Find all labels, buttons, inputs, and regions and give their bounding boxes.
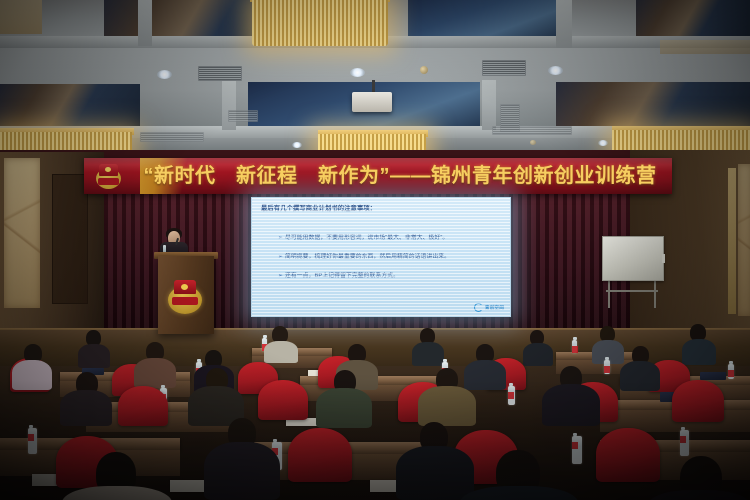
audience-member bbox=[396, 446, 474, 500]
smoke-detector bbox=[530, 140, 536, 145]
water-bottle bbox=[680, 430, 689, 456]
water-bottle bbox=[572, 340, 577, 353]
audience-member bbox=[78, 344, 110, 368]
recessed-downlight bbox=[292, 142, 302, 148]
ceiling bbox=[0, 0, 750, 162]
audience-member bbox=[542, 384, 600, 426]
audience-member bbox=[682, 339, 716, 365]
bullet-arrow-icon: ➢ bbox=[278, 235, 283, 241]
audience-member bbox=[620, 361, 660, 391]
water-bottle bbox=[28, 428, 37, 454]
recessed-downlight bbox=[157, 70, 172, 79]
audience-member bbox=[523, 343, 553, 366]
audience-member bbox=[60, 390, 112, 426]
air-conditioning-vent bbox=[492, 126, 572, 135]
ring-icon bbox=[474, 303, 483, 312]
audience-member bbox=[412, 342, 444, 366]
marble-wall-panel bbox=[738, 164, 750, 316]
ceiling-wood-trim bbox=[0, 0, 42, 34]
rectangular-gold-chandelier bbox=[252, 0, 388, 46]
slide-logo: 青创空间 bbox=[474, 303, 504, 312]
water-bottle bbox=[572, 436, 582, 464]
red-cap-gold-disc-emblem bbox=[166, 280, 204, 314]
speaker-podium bbox=[158, 256, 214, 334]
ceiling-projector bbox=[352, 92, 392, 112]
water-bottle bbox=[604, 360, 610, 374]
slide-logo-text: 青创空间 bbox=[485, 305, 504, 311]
ceiling-art-panel bbox=[408, 0, 568, 36]
slide-bullet-3: ➢还有一点，BP上记得留下完整的联系方式。 bbox=[278, 270, 399, 279]
ceiling-wood-trim bbox=[660, 40, 750, 54]
conference-hall-photo: “新时代 新征程 新作为”——锦州青年创新创业训练营 最后有几个撰写商业计划书的… bbox=[0, 0, 750, 500]
projection-screen: 最后有几个撰写商业计划书的注意事项： ➢尽可能用数据，不要用形容词，说市场“最大… bbox=[251, 197, 511, 317]
bullet-arrow-icon: ➢ bbox=[278, 254, 283, 260]
audience-chair bbox=[258, 380, 308, 420]
water-bottle bbox=[728, 364, 734, 379]
air-conditioning-vent bbox=[198, 66, 242, 81]
gold-wall-trim bbox=[728, 168, 736, 314]
ceiling-beam bbox=[138, 0, 152, 46]
air-conditioning-vent bbox=[228, 110, 258, 122]
audience-member bbox=[316, 388, 372, 428]
audience-member bbox=[134, 358, 176, 388]
recessed-downlight bbox=[548, 66, 563, 75]
slide-bullet-text: 尽可能用数据，不要用形容词，说市场“最大、非常大、极好”。 bbox=[285, 235, 448, 241]
audience-member bbox=[204, 442, 280, 500]
audience-chair bbox=[118, 386, 168, 426]
marble-wall-panel bbox=[4, 158, 40, 308]
ceiling-beam bbox=[482, 80, 496, 130]
audience-member bbox=[418, 386, 476, 426]
slide-bullet-text: 还有一点，BP上记得留下完整的联系方式。 bbox=[285, 273, 399, 279]
side-door bbox=[52, 174, 88, 304]
conference-folder bbox=[700, 372, 726, 380]
slide-bullet-text: 简明扼要，梳理好你最重要的东西，然后用精简的话语讲出来。 bbox=[285, 254, 450, 260]
ceiling-art-panel bbox=[636, 0, 750, 38]
ceiling-beam bbox=[222, 80, 236, 130]
ceiling-art-panel bbox=[0, 84, 140, 128]
whiteboard-on-stand bbox=[602, 236, 664, 281]
audience-chair bbox=[288, 428, 352, 482]
air-conditioning-vent bbox=[482, 60, 526, 76]
audience-member bbox=[264, 341, 298, 363]
air-conditioning-vent bbox=[140, 132, 204, 142]
audience-chair bbox=[672, 380, 724, 422]
slide-bullet-2: ➢简明扼要，梳理好你最重要的东西，然后用精简的话语讲出来。 bbox=[278, 251, 450, 260]
smoke-detector bbox=[420, 66, 428, 74]
slide-title: 最后有几个撰写商业计划书的注意事项： bbox=[261, 203, 376, 212]
banner-title: “新时代 新征程 新作为”——锦州青年创新创业训练营 bbox=[84, 159, 672, 193]
bullet-arrow-icon: ➢ bbox=[278, 273, 283, 279]
whiteboard-crossbar bbox=[606, 290, 658, 292]
water-bottle bbox=[508, 386, 515, 405]
audience-member bbox=[464, 360, 506, 390]
audience-chair bbox=[596, 428, 660, 482]
recessed-downlight bbox=[350, 68, 365, 77]
audience-member bbox=[12, 360, 52, 390]
slide-bullet-1: ➢尽可能用数据，不要用形容词，说市场“最大、非常大、极好”。 bbox=[278, 232, 448, 241]
ceiling-art-panel bbox=[556, 82, 750, 126]
ceiling-beam bbox=[556, 0, 572, 48]
event-banner: “新时代 新征程 新作为”——锦州青年创新创业训练营 bbox=[84, 158, 672, 194]
recessed-downlight bbox=[598, 140, 608, 146]
